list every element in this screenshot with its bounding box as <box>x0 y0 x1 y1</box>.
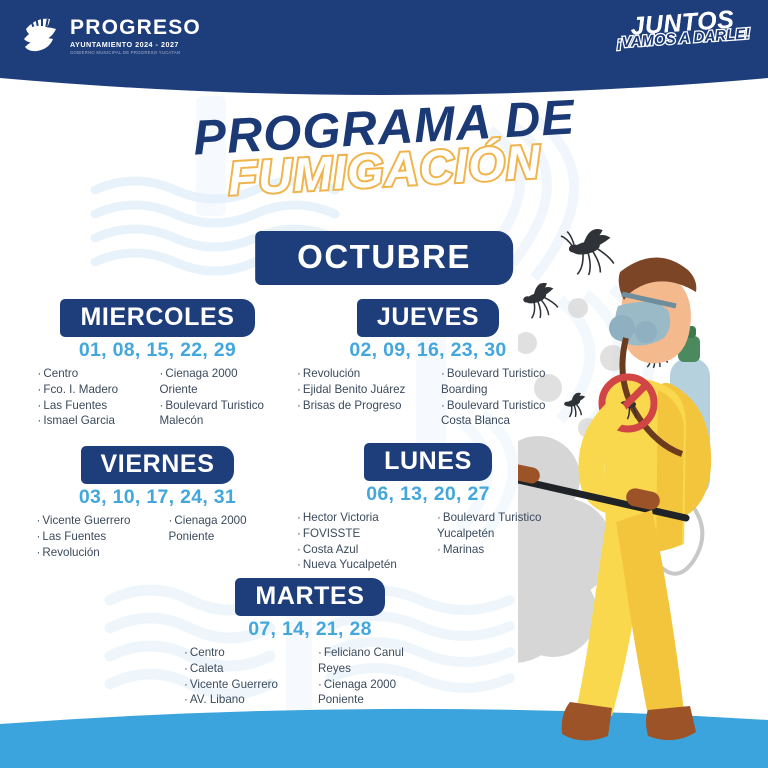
brand-title: PROGRESO <box>70 17 201 38</box>
list-item: Las Fuentes <box>38 398 148 414</box>
list-item: Boulevard Turistico Boarding <box>441 366 559 397</box>
list-item: Costa Azul <box>297 542 425 558</box>
day-name-lunes: LUNES <box>364 443 492 481</box>
day-locations-martes: Centro Caleta Vicente Guerrero AV. Liban… <box>160 645 460 707</box>
day-block-lunes: LUNES 06, 13, 20, 27 Hector Victoria FOV… <box>292 443 564 573</box>
day-dates-miercoles: 01, 08, 15, 22, 29 <box>30 340 285 361</box>
location-column-b: Feliciano Canul Reyes Cienaga 2000 Ponie… <box>318 645 436 707</box>
progreso-seal-icon <box>16 13 62 59</box>
day-name-miercoles: MIERCOLES <box>60 299 254 337</box>
list-item: Las Fuentes <box>37 529 157 545</box>
list-item: AV. Libano <box>184 692 306 708</box>
location-column-a: Hector Victoria FOVISSTE Costa Azul Nuev… <box>297 510 425 572</box>
list-item: Nueva Yucalpetén <box>297 557 425 573</box>
poster-title: PROGRAMA DE FUMIGACIÓN <box>0 100 768 197</box>
list-item: Centro <box>184 645 306 661</box>
list-item: Vicente Guerrero <box>37 513 157 529</box>
list-item: Cienaga 2000 Oriente <box>160 366 282 397</box>
poster-header: PROGRESO AYUNTAMIENTO 2024 - 2027 GOBIER… <box>0 0 768 100</box>
day-block-martes: MARTES 07, 14, 21, 28 Centro Caleta Vice… <box>160 578 460 708</box>
day-locations-miercoles: Centro Fco. I. Madero Las Fuentes Ismael… <box>30 366 285 428</box>
location-column-a: Centro Caleta Vicente Guerrero AV. Liban… <box>184 645 306 707</box>
day-block-viernes: VIERNES 03, 10, 17, 24, 31 Vicente Guerr… <box>30 446 285 560</box>
list-item: Brisas de Progreso <box>297 398 429 414</box>
list-item: Fco. I. Madero <box>38 382 148 398</box>
list-item: Centro <box>38 366 148 382</box>
month-banner: OCTUBRE <box>255 231 513 285</box>
list-item: Boulevard Turistico Malecón <box>160 398 282 429</box>
list-item: Hector Victoria <box>297 510 425 526</box>
day-name-viernes: VIERNES <box>81 446 235 484</box>
day-block-miercoles: MIERCOLES 01, 08, 15, 22, 29 Centro Fco.… <box>30 299 285 429</box>
location-column-b: Cienaga 2000 Oriente Boulevard Turistico… <box>160 366 282 428</box>
brand-subtitle: AYUNTAMIENTO 2024 - 2027 <box>70 41 201 48</box>
location-column-b: Boulevard Turistico Yucalpetén Marinas <box>437 510 559 572</box>
day-dates-martes: 07, 14, 21, 28 <box>160 619 460 640</box>
list-item: Cienaga 2000 Poniente <box>318 677 436 708</box>
fumigation-schedule-poster: PROGRESO AYUNTAMIENTO 2024 - 2027 GOBIER… <box>0 0 768 768</box>
list-item: Caleta <box>184 661 306 677</box>
location-column-a: Centro Fco. I. Madero Las Fuentes Ismael… <box>38 366 148 428</box>
brand-footnote: GOBIERNO MUNICIPAL DE PROGRESO YUCATAN <box>70 51 201 55</box>
location-column-a: Revolución Ejidal Benito Juárez Brisas d… <box>297 366 429 428</box>
list-item: Cienaga 2000 Poniente <box>169 513 279 544</box>
day-locations-viernes: Vicente Guerrero Las Fuentes Revolución … <box>30 513 285 560</box>
list-item: Revolución <box>297 366 429 382</box>
day-dates-jueves: 02, 09, 16, 23, 30 <box>292 340 564 361</box>
list-item: Revolución <box>37 545 157 561</box>
brand-lockup: PROGRESO AYUNTAMIENTO 2024 - 2027 GOBIER… <box>16 13 201 59</box>
day-block-jueves: JUEVES 02, 09, 16, 23, 30 Revolución Eji… <box>292 299 564 429</box>
day-name-martes: MARTES <box>235 578 384 616</box>
day-dates-viernes: 03, 10, 17, 24, 31 <box>30 487 285 508</box>
location-column-a: Vicente Guerrero Las Fuentes Revolución <box>37 513 157 560</box>
list-item: Marinas <box>437 542 559 558</box>
day-locations-jueves: Revolución Ejidal Benito Juárez Brisas d… <box>292 366 564 428</box>
list-item: Vicente Guerrero <box>184 677 306 693</box>
location-column-b: Boulevard Turistico Boarding Boulevard T… <box>441 366 559 428</box>
list-item: Ejidal Benito Juárez <box>297 382 429 398</box>
location-column-b: Cienaga 2000 Poniente <box>169 513 279 560</box>
day-name-jueves: JUEVES <box>357 299 499 337</box>
day-locations-lunes: Hector Victoria FOVISSTE Costa Azul Nuev… <box>292 510 564 572</box>
day-dates-lunes: 06, 13, 20, 27 <box>292 484 564 505</box>
list-item: Boulevard Turistico Costa Blanca <box>441 398 559 429</box>
list-item: FOVISSTE <box>297 526 425 542</box>
list-item: Ismael Garcia <box>38 413 148 429</box>
list-item: Feliciano Canul Reyes <box>318 645 436 676</box>
list-item: Boulevard Turistico Yucalpetén <box>437 510 559 541</box>
